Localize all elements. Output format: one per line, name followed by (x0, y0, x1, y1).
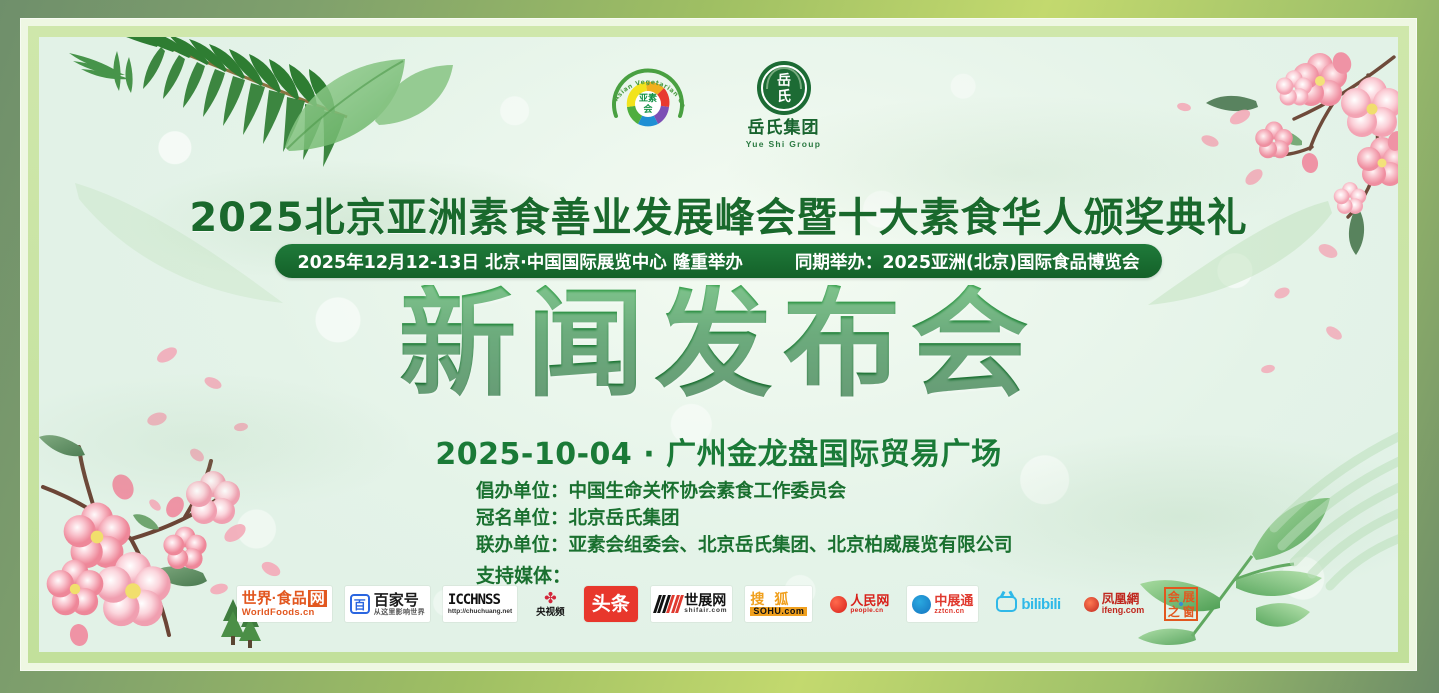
ifeng-cn: 凤凰網 (1102, 593, 1140, 606)
baijiahao-cn: 百家号 (374, 593, 419, 608)
toutiao-cn: 头条 (592, 595, 630, 614)
yangshipin-cn: 央视频 (536, 608, 565, 618)
organizers-block: 倡办单位：中国生命关怀协会素食工作委员会 冠名单位：北京岳氏集团 联办单位：亚素… (476, 479, 1013, 559)
media-logo-worldfoods[interactable]: 世界·食品网 WorldFoods.cn (237, 586, 332, 622)
info-bar-wrap: 2025年12月12-13日 北京·中国国际展览中心 隆重举办 同期举办：202… (39, 244, 1398, 278)
worldfoods-en: WorldFoods.cn (242, 608, 315, 618)
svg-text:亚素: 亚素 (638, 92, 656, 104)
media-logo-toutiao[interactable]: 头条 (584, 586, 638, 622)
bilibili-en: bilibili (1021, 597, 1060, 612)
ysg-name-en: Yue Shi Group (736, 139, 832, 149)
people-cn-en: people.cn (850, 608, 883, 615)
ysg-name-cn: 岳氏集团 (736, 119, 832, 138)
worldfoods-cn: 世界·食品网 (242, 591, 327, 606)
media-logo-chuchuang[interactable]: ICCHNSS http://chuchuang.net (443, 586, 517, 622)
sohu-en: SOHU.com (750, 607, 807, 616)
info-bar: 2025年12月12-13日 北京·中国国际展览中心 隆重举办 同期举办：202… (275, 244, 1161, 278)
people-cn-text: 人民网 people.cn (850, 594, 889, 615)
yangshipin-mark-icon: ✤ (544, 591, 557, 606)
sohu-cn: 搜狐 (750, 592, 798, 606)
zztcn-text: 中展通 zztcn.cn (934, 594, 973, 615)
media-logos-row: 世界·食品网 WorldFoods.cn 百 百家号 从这里影响世界 (39, 586, 1398, 622)
media-logo-baijiahao[interactable]: 百 百家号 从这里影响世界 (345, 586, 430, 622)
shifair-text: 世展网 shifair.com (684, 593, 727, 615)
media-logo-people-cn[interactable]: 人民网 people.cn (825, 586, 894, 622)
media-support-label: 支持媒体： (476, 561, 571, 588)
zztcn-en: zztcn.cn (934, 608, 964, 615)
ifeng-text: 凤凰網 ifeng.com (1102, 593, 1145, 616)
huizhan-char-3: 之 (1166, 604, 1181, 619)
shifair-en: shifair.com (684, 608, 727, 615)
people-cn-cn: 人民网 (850, 594, 889, 607)
shifair-bars-icon (656, 595, 682, 613)
logo-asian-vegetarian-conference: 亚素 会 Asian Vegetarian Conference (606, 60, 690, 149)
media-logo-zztcn[interactable]: 中展通 zztcn.cn (907, 586, 978, 622)
baijiahao-text: 百家号 从这里影响世界 (374, 593, 425, 616)
svg-text:岳: 岳 (777, 72, 791, 89)
media-logo-huizhanzhichuang[interactable]: 会 展 之 窗 (1162, 586, 1200, 622)
people-cn-mark-icon (830, 596, 847, 613)
zztcn-mark-icon (912, 595, 931, 614)
poster-frame-inner: 亚素 会 Asian Vegetarian Conference (28, 26, 1409, 663)
baijiahao-icon: 百 (350, 594, 370, 614)
poster-date-venue: 2025-10-04 · 广州金龙盘国际贸易广场 (39, 429, 1398, 473)
info-bar-left: 2025年12月12-13日 北京·中国国际展览中心 隆重举办 (297, 249, 742, 274)
logo-yue-shi-group: 岳 氏 岳氏集团 Yue Shi Group (736, 59, 832, 149)
poster-frame-outer: 亚素 会 Asian Vegetarian Conference (20, 18, 1417, 671)
shifair-cn: 世展网 (684, 593, 726, 607)
zztcn-cn: 中展通 (934, 594, 973, 607)
poster-headline: 新闻发布会 (39, 285, 1398, 403)
huizhan-char-2: 展 (1181, 589, 1196, 604)
ifeng-mark-icon (1084, 597, 1099, 612)
organizer-line-title-sponsor: 冠名单位：北京岳氏集团 (476, 506, 1013, 533)
content-layer: 亚素 会 Asian Vegetarian Conference (39, 37, 1398, 652)
header-logos: 亚素 会 Asian Vegetarian Conference (39, 59, 1398, 149)
media-logo-bilibili[interactable]: bilibili (991, 586, 1065, 622)
huizhan-char-1: 会 (1166, 589, 1181, 604)
chuchuang-cn: ICCHNSS (448, 593, 500, 607)
media-logo-ifeng[interactable]: 凤凰網 ifeng.com (1079, 586, 1150, 622)
poster-main-title: 2025北京亚洲素食善业发展峰会暨十大素食华人颁奖典礼 (39, 185, 1398, 243)
ifeng-en: ifeng.com (1102, 606, 1145, 615)
organizer-line-initiator: 倡办单位：中国生命关怀协会素食工作委员会 (476, 479, 1013, 506)
poster-canvas: 亚素 会 Asian Vegetarian Conference (39, 37, 1398, 652)
media-logo-shifair[interactable]: 世展网 shifair.com (651, 586, 733, 622)
svg-text:会: 会 (643, 103, 653, 115)
baijiahao-slogan: 从这里影响世界 (374, 609, 425, 616)
huizhan-grid-icon: 会 展 之 窗 (1164, 587, 1198, 621)
avc-emblem-icon: 亚素 会 Asian Vegetarian Conference (606, 60, 690, 144)
info-bar-right: 同期举办：2025亚洲(北京)国际食品博览会 (795, 249, 1140, 274)
media-logo-sohu[interactable]: 搜狐 SOHU.com (745, 586, 812, 622)
media-logo-yangshipin[interactable]: ✤ 央视频 (530, 586, 571, 622)
chuchuang-url: http://chuchuang.net (448, 609, 512, 616)
poster-root: 亚素 会 Asian Vegetarian Conference (0, 0, 1439, 693)
huizhan-char-4: 窗 (1181, 604, 1196, 619)
svg-text:氏: 氏 (777, 89, 791, 105)
ysg-emblem-icon: 岳 氏 (755, 59, 813, 117)
bilibili-tv-icon (996, 596, 1017, 612)
organizer-line-co-organizers: 联办单位：亚素会组委会、北京岳氏集团、北京柏威展览有限公司 (476, 533, 1013, 560)
